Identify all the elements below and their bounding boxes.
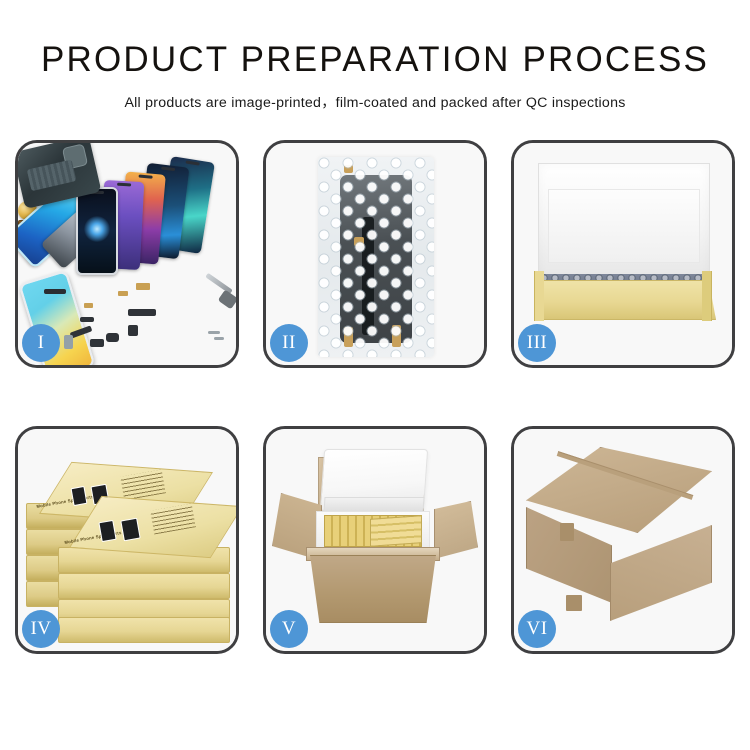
process-step-4: Mobile Phone Spare Parts Mobile Phone Sp… [15,426,239,654]
yellow-boxes-inside [370,515,422,547]
tray-right-lip [702,271,712,321]
process-step-6: VI [511,426,735,654]
black-front-glass-panel [76,187,118,275]
screw [214,337,224,340]
step-badge-5: V [270,610,308,648]
step-badge-1: I [22,324,60,362]
product-window [120,518,140,542]
process-step-grid: I II [15,140,735,680]
step-badge-2: II [270,324,308,362]
step-badge-6: VI [518,610,556,648]
tape-tabs [560,523,574,541]
bubble-wrap-pouch-icon [318,157,434,357]
notch-icon [117,183,131,187]
bubble-wrap-sheet [318,157,434,357]
screwdriver [205,273,232,294]
stacked-boxes-icon: Mobile Phone Spare Parts Mobile Phone Sp… [26,445,232,641]
carton-body [306,555,440,623]
flex-cable [128,309,156,316]
header: PRODUCT PREPARATION PROCESS All products… [0,0,750,112]
flex-cable [80,317,94,322]
process-step-2: II [263,140,487,368]
product-preparation-infographic: PRODUCT PREPARATION PROCESS All products… [0,0,750,750]
yellow-kraft-tray [534,280,716,320]
product-window [71,486,88,506]
screwdriver-handle [218,290,236,310]
white-box-lid-face [548,189,700,263]
page-subtitle: All products are image-printed，film-coat… [0,92,750,112]
process-step-3: III [511,140,735,368]
tape-tabs [566,595,582,611]
tray-left-lip [534,271,544,321]
open-carton-flaps [434,501,478,559]
gold-contact [118,291,128,296]
process-step-5: V [263,426,487,654]
notch-icon [186,160,200,165]
battery-connector [64,335,73,349]
product-window [98,520,116,542]
process-step-1: I [15,140,239,368]
box-slab [58,573,230,599]
page-title: PRODUCT PREPARATION PROCESS [0,40,750,80]
notch-icon [161,166,175,171]
gold-contact [84,303,93,308]
speaker-module [44,289,66,294]
camera-module [128,325,138,336]
step-badge-4: IV [22,610,60,648]
gold-contact [136,283,150,290]
notch-icon [139,175,153,179]
carton-side [610,525,712,621]
sim-tray [90,339,104,347]
vibration-motor [106,333,119,342]
box-slab [58,617,230,643]
screw [208,331,220,334]
step-badge-3: III [518,324,556,362]
